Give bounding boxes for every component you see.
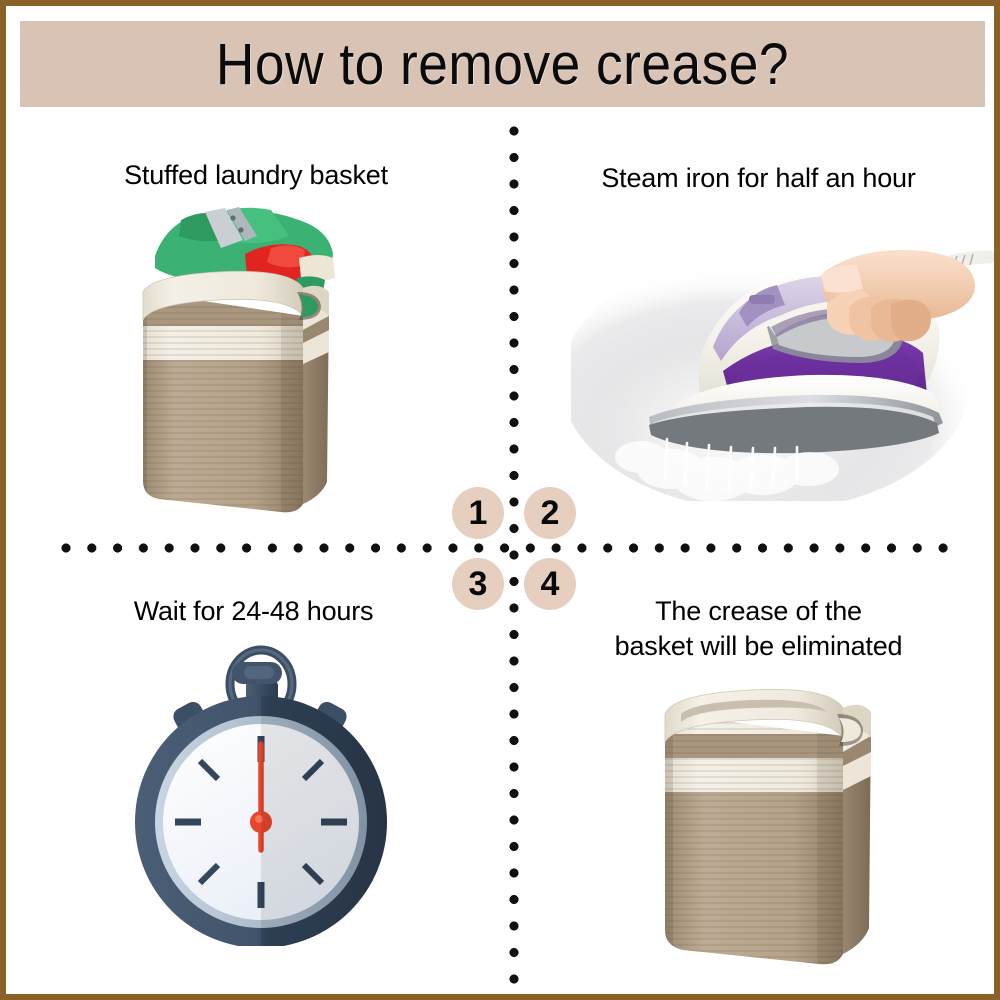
header-banner: How to remove crease? — [20, 21, 985, 107]
vertical-dotted-divider — [509, 126, 519, 986]
step-badge-3: 3 — [452, 558, 504, 610]
step-badge-2: 2 — [524, 487, 576, 539]
steam-iron-icon — [571, 211, 1000, 501]
laundry-basket-full-icon — [121, 196, 381, 526]
step-1-caption: Stuffed laundry basket — [6, 158, 506, 193]
step-4-caption: The crease of the basket will be elimina… — [511, 594, 1000, 663]
step-3-caption: Wait for 24-48 hours — [6, 594, 501, 629]
infographic-page: How to remove crease? Stuffed laundry ba… — [0, 0, 1000, 1000]
step-badge-1: 1 — [452, 487, 504, 539]
step-badge-4: 4 — [524, 558, 576, 610]
page-title: How to remove crease? — [216, 31, 789, 98]
stopwatch-icon — [118, 636, 438, 946]
laundry-basket-empty-icon — [651, 678, 901, 978]
step-2-caption: Steam iron for half an hour — [511, 161, 1000, 196]
